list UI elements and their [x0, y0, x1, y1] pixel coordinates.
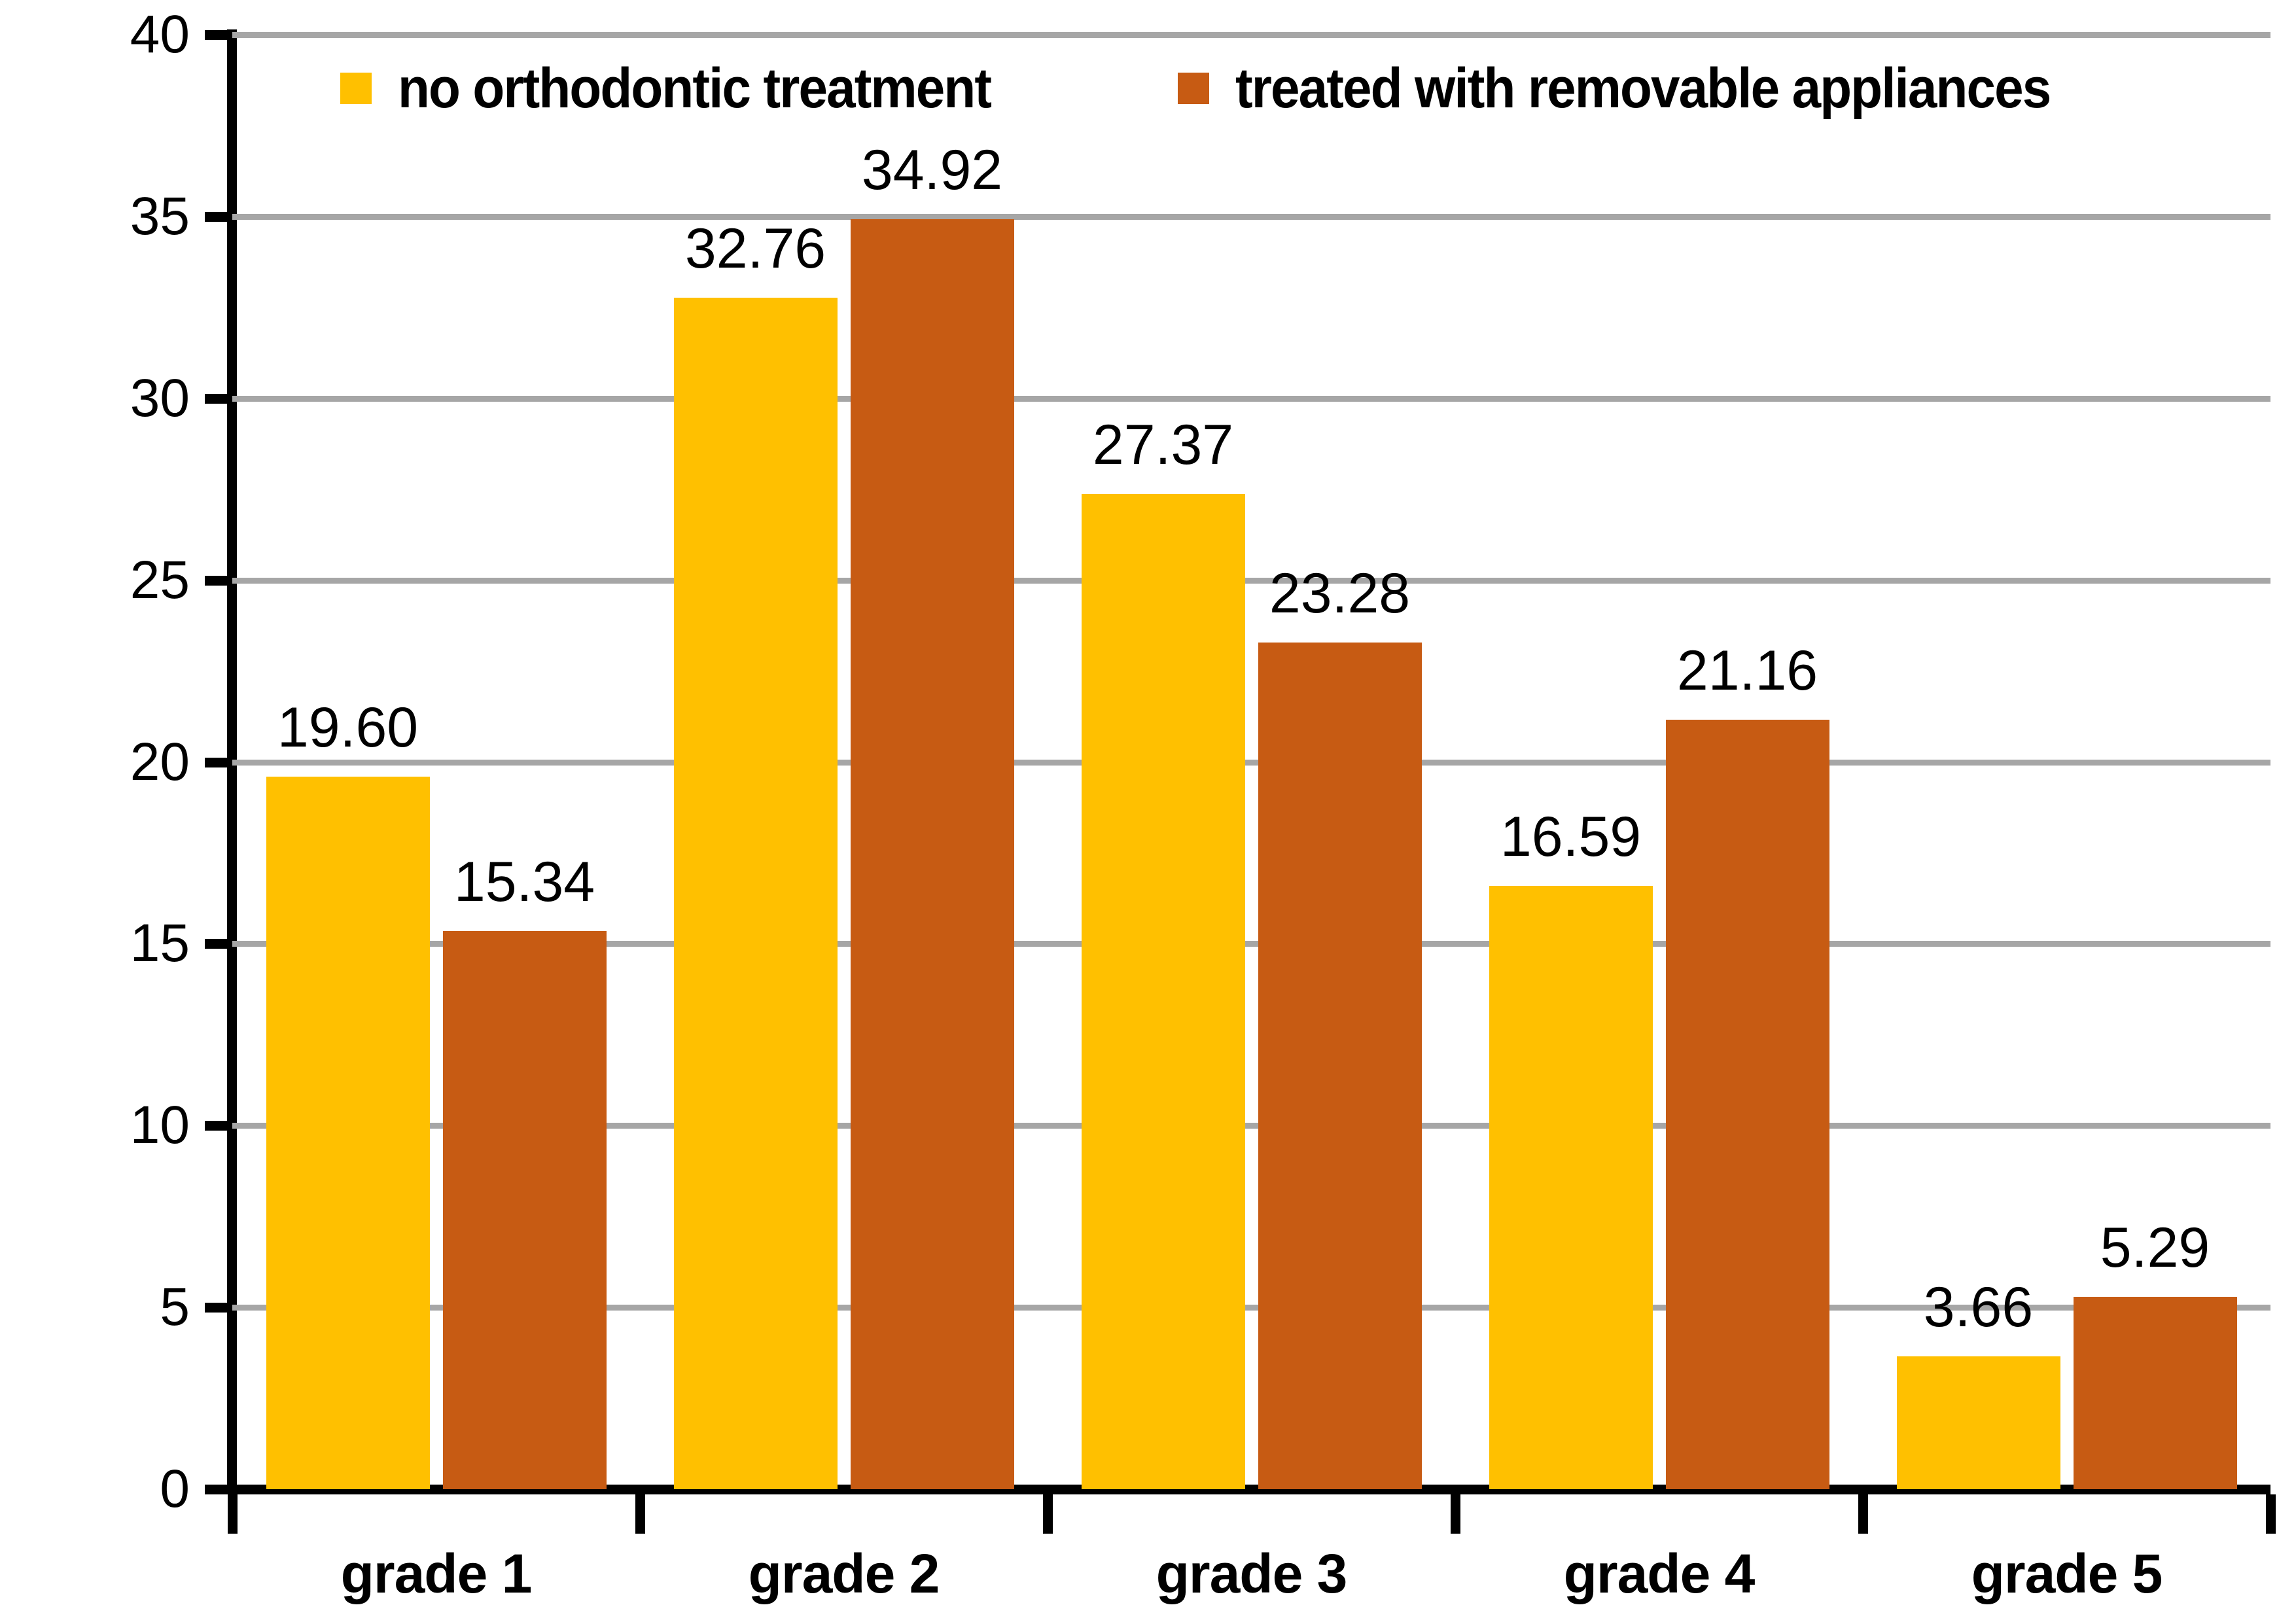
- bar-grade-4-series-0: [1489, 886, 1653, 1489]
- gridline: [232, 760, 2270, 766]
- x-category-label-grade-4: grade 4: [1455, 1541, 1863, 1606]
- bar-value-label: 23.28: [1219, 565, 1461, 622]
- y-tick-label: 20: [39, 735, 190, 789]
- x-tick-mark: [1043, 1494, 1053, 1534]
- y-tick-mark: [205, 212, 227, 222]
- x-tick-mark: [1858, 1494, 1868, 1534]
- y-tick-label: 10: [39, 1099, 190, 1152]
- x-category-label-grade-2: grade 2: [640, 1541, 1048, 1606]
- gridline: [232, 32, 2270, 38]
- bar-grade-2-series-0: [674, 298, 838, 1489]
- x-tick-mark: [635, 1494, 645, 1534]
- y-tick-mark: [205, 394, 227, 404]
- x-tick-mark: [2266, 1494, 2276, 1534]
- x-category-label-grade-3: grade 3: [1048, 1541, 1455, 1606]
- y-tick-label: 0: [39, 1462, 190, 1516]
- bar-grade-3-series-1: [1258, 643, 1422, 1489]
- gridline: [232, 214, 2270, 220]
- bar-value-label: 32.76: [635, 220, 877, 277]
- y-tick-label: 5: [39, 1280, 190, 1334]
- bar-grade-3-series-0: [1082, 494, 1245, 1489]
- x-category-label-grade-1: grade 1: [232, 1541, 640, 1606]
- y-tick-label: 40: [39, 8, 190, 62]
- x-category-label-grade-5: grade 5: [1863, 1541, 2270, 1606]
- x-tick-mark-origin: [228, 1494, 238, 1534]
- y-tick-mark: [205, 939, 227, 949]
- bar-value-label: 16.59: [1450, 809, 1692, 865]
- bar-value-label: 21.16: [1627, 643, 1869, 699]
- gridline: [232, 396, 2270, 402]
- bar-value-label: 5.29: [2034, 1220, 2276, 1276]
- y-tick-label: 30: [39, 372, 190, 425]
- bar-value-label: 15.34: [404, 854, 646, 910]
- y-tick-label: 15: [39, 917, 190, 970]
- y-tick-mark: [205, 1303, 227, 1313]
- y-tick-label: 35: [39, 190, 190, 243]
- bar-grade-5-series-0: [1897, 1356, 2060, 1489]
- x-tick-mark: [1451, 1494, 1460, 1534]
- y-tick-mark: [205, 576, 227, 586]
- bar-value-label: 27.37: [1042, 417, 1284, 473]
- plot-area: 19.6015.3432.7634.9227.3723.2816.5921.16…: [232, 35, 2270, 1489]
- bar-grade-4-series-1: [1666, 720, 1829, 1489]
- y-tick-mark: [205, 1121, 227, 1131]
- bar-value-label: 3.66: [1858, 1279, 2100, 1335]
- y-tick-mark: [205, 30, 227, 40]
- bar-value-label: 19.60: [227, 699, 469, 756]
- bar-value-label: 34.92: [811, 142, 1053, 198]
- y-tick-label: 25: [39, 554, 190, 607]
- bar-grade-1-series-1: [443, 931, 607, 1489]
- y-tick-mark: [205, 1485, 227, 1494]
- bar-grade-5-series-1: [2074, 1297, 2237, 1489]
- bar-grade-2-series-1: [851, 219, 1014, 1489]
- y-tick-mark: [205, 758, 227, 767]
